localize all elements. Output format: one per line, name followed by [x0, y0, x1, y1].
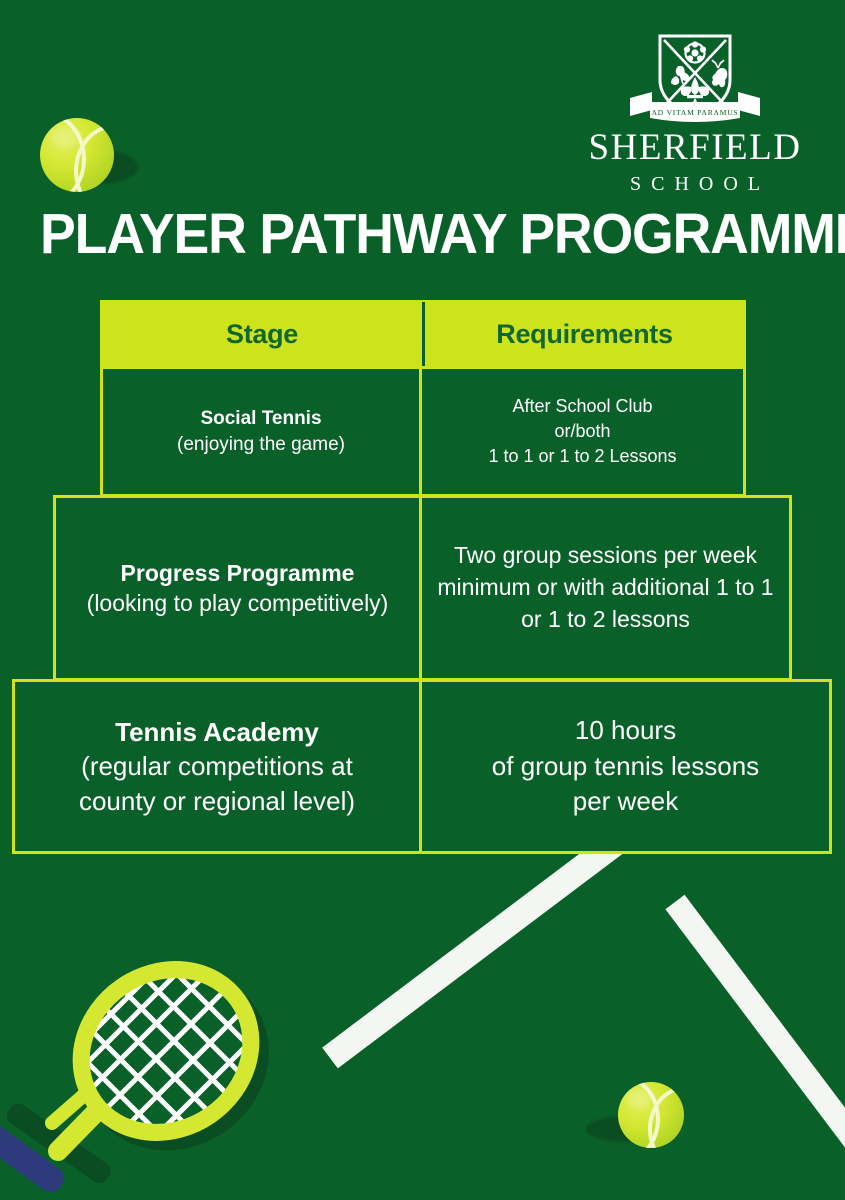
- requirement-line: 1 to 1 or 1 to 2 Lessons: [488, 444, 676, 469]
- requirement-line: minimum or with additional 1 to 1: [437, 572, 773, 604]
- court-baseline: [322, 830, 845, 1068]
- stage-name: Progress Programme: [121, 558, 355, 588]
- crest-shield-icon: AD VITAM PARAMUS: [560, 22, 830, 127]
- table-row: Progress Programme (looking to play comp…: [53, 495, 792, 681]
- cell-stage: Tennis Academy (regular competitions at …: [15, 682, 422, 851]
- ball-body: [618, 1082, 684, 1148]
- school-subtitle: SCHOOL: [560, 174, 830, 194]
- tennis-racket-icon: [0, 955, 310, 1200]
- requirement-line: or/both: [554, 419, 610, 444]
- stage-description: (regular competitions at: [81, 749, 353, 783]
- table-row: Tennis Academy (regular competitions at …: [12, 679, 832, 854]
- requirement-line: 10 hours: [575, 713, 676, 749]
- tennis-ball-icon: [618, 1082, 684, 1148]
- requirement-line: per week: [573, 784, 679, 820]
- school-logo: AD VITAM PARAMUS SHERFIELD SCHOOL: [560, 22, 830, 192]
- header-cell-stage: Stage: [102, 302, 425, 366]
- court-centre-line: [665, 895, 845, 1165]
- tennis-court-lines: [0, 830, 845, 1200]
- crest-motto: AD VITAM PARAMUS: [652, 108, 739, 117]
- ball-highlight: [50, 126, 80, 148]
- page-title: PLAYER PATHWAY PROGRAMME: [40, 206, 773, 263]
- cell-requirements: After School Club or/both 1 to 1 or 1 to…: [422, 369, 743, 494]
- stage-description: (enjoying the game): [177, 432, 345, 457]
- ball-highlight: [626, 1088, 652, 1108]
- requirement-line: or 1 to 2 lessons: [521, 604, 690, 636]
- stage-name: Social Tennis: [200, 406, 321, 431]
- requirement-line: Two group sessions per week: [454, 540, 757, 572]
- cell-requirements: Two group sessions per week minimum or w…: [422, 498, 789, 678]
- requirement-line: of group tennis lessons: [492, 749, 759, 785]
- cell-stage: Social Tennis (enjoying the game): [103, 369, 422, 494]
- cell-requirements: 10 hours of group tennis lessons per wee…: [422, 682, 829, 851]
- stage-name: Tennis Academy: [115, 715, 319, 749]
- header-cell-requirements: Requirements: [425, 302, 744, 366]
- table-row: Social Tennis (enjoying the game) After …: [100, 366, 746, 497]
- requirement-line: After School Club: [512, 394, 652, 419]
- poster-canvas: AD VITAM PARAMUS SHERFIELD SCHOOL PLAYER…: [0, 0, 845, 1200]
- table-header-row: Stage Requirements: [100, 300, 746, 368]
- stage-description: (looking to play competitively): [87, 588, 389, 618]
- tennis-ball-icon: [40, 118, 114, 192]
- stage-description: county or regional level): [79, 784, 355, 818]
- cell-stage: Progress Programme (looking to play comp…: [56, 498, 422, 678]
- school-name: SHERFIELD: [560, 129, 830, 166]
- ball-body: [40, 118, 114, 192]
- pathway-table: Stage Requirements Social Tennis (enjoyi…: [0, 290, 845, 865]
